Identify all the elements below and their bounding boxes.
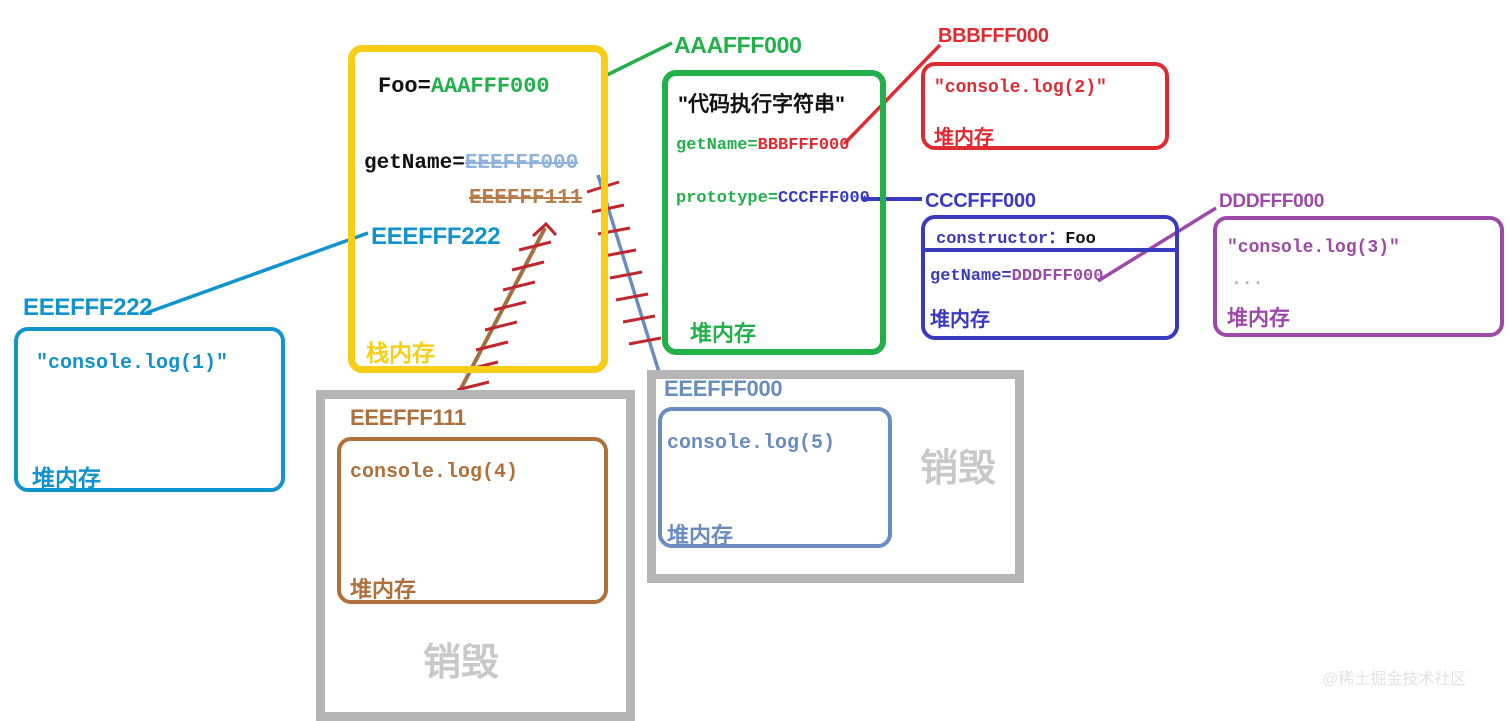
pointer-label-eeefff111: EEEFFF111 bbox=[350, 405, 466, 431]
heap-bbbfff000-content: "console.log(2)" bbox=[934, 78, 1107, 98]
pointer-label-dddfff000: DDDFFF000 bbox=[1219, 191, 1324, 213]
heap-eeefff111-footer: 堆内存 bbox=[350, 572, 416, 604]
heap-dddfff000-ellipsis: ... bbox=[1231, 270, 1263, 290]
heap-eeefff000-content: console.log(5) bbox=[667, 432, 835, 455]
heap-eeefff111-content: console.log(4) bbox=[350, 461, 518, 484]
heap-dddfff000-content: "console.log(3)" bbox=[1227, 238, 1400, 258]
pointer-label-cccfff000: CCCFFF000 bbox=[925, 190, 1036, 213]
code-string-prototype-value: CCCFFF000 bbox=[778, 189, 870, 208]
heap-bbbfff000-footer: 堆内存 bbox=[934, 121, 994, 150]
heap-cccfff000-getname-row: getName=DDDFFF000 bbox=[930, 267, 1103, 286]
heap-eeefff222-footer: 堆内存 bbox=[32, 459, 101, 493]
code-string-prototype-row: prototype=CCCFFF000 bbox=[676, 189, 870, 208]
code-string-getname-row: getName=BBBFFF000 bbox=[676, 136, 849, 155]
code-string-title: "代码执行字符串" bbox=[678, 88, 845, 118]
destroyed-label-eeefff111: 销毁 bbox=[423, 631, 499, 686]
stack-getname-value-eeefff000: EEEFFF000 bbox=[465, 152, 578, 175]
stack-foo-value: AAAFFF000 bbox=[431, 74, 550, 99]
heap-eeefff000-footer: 堆内存 bbox=[667, 518, 733, 550]
connector-aaafff000 bbox=[607, 43, 672, 75]
connector-eeefff222 bbox=[146, 233, 368, 313]
diagram-canvas: Foo=AAAFFF000 getName=EEEFFF000 EEEFFF11… bbox=[0, 0, 1508, 721]
pointer-label-aaafff000: AAAFFF000 bbox=[674, 32, 802, 59]
pointer-label-eeefff222: EEEFFF222 bbox=[23, 294, 152, 322]
stack-getname-key: getName= bbox=[364, 152, 465, 175]
heap-cccfff000-constructor-key: constructor： bbox=[936, 230, 1065, 249]
code-string-getname-value: BBBFFF000 bbox=[758, 136, 850, 155]
code-string-prototype-key: prototype= bbox=[676, 189, 778, 208]
pointer-label-eeefff000: EEEFFF000 bbox=[664, 376, 782, 402]
stack-foo-key: Foo= bbox=[378, 74, 431, 99]
stack-memory-footer: 栈内存 bbox=[366, 334, 435, 368]
heap-cccfff000-footer: 堆内存 bbox=[930, 303, 990, 332]
heap-eeefff222-content: "console.log(1)" bbox=[36, 352, 228, 375]
stack-foo-entry: Foo=AAAFFF000 bbox=[378, 74, 550, 99]
heap-cccfff000-getname-key: getName= bbox=[930, 267, 1012, 286]
pointer-label-bbbfff000: BBBFFF000 bbox=[938, 25, 1049, 48]
watermark: @稀土掘金技术社区 bbox=[1322, 665, 1466, 689]
stack-getname-entry: getName=EEEFFF000 bbox=[364, 152, 578, 175]
heap-cccfff000-getname-value: DDDFFF000 bbox=[1012, 267, 1104, 286]
heap-cccfff000-constructor-row: constructor：Foo bbox=[936, 223, 1096, 249]
heap-dddfff000-footer: 堆内存 bbox=[1227, 302, 1290, 332]
stack-getname-value-eeefff222: EEEFFF222 bbox=[371, 223, 500, 251]
destroyed-label-eeefff000: 销毁 bbox=[920, 437, 996, 492]
stack-getname-value-eeefff111: EEEFFF111 bbox=[469, 187, 582, 210]
heap-cccfff000-divider bbox=[921, 248, 1179, 252]
code-string-footer: 堆内存 bbox=[690, 316, 756, 348]
code-string-getname-key: getName= bbox=[676, 136, 758, 155]
heap-cccfff000-constructor-value: Foo bbox=[1065, 230, 1096, 249]
